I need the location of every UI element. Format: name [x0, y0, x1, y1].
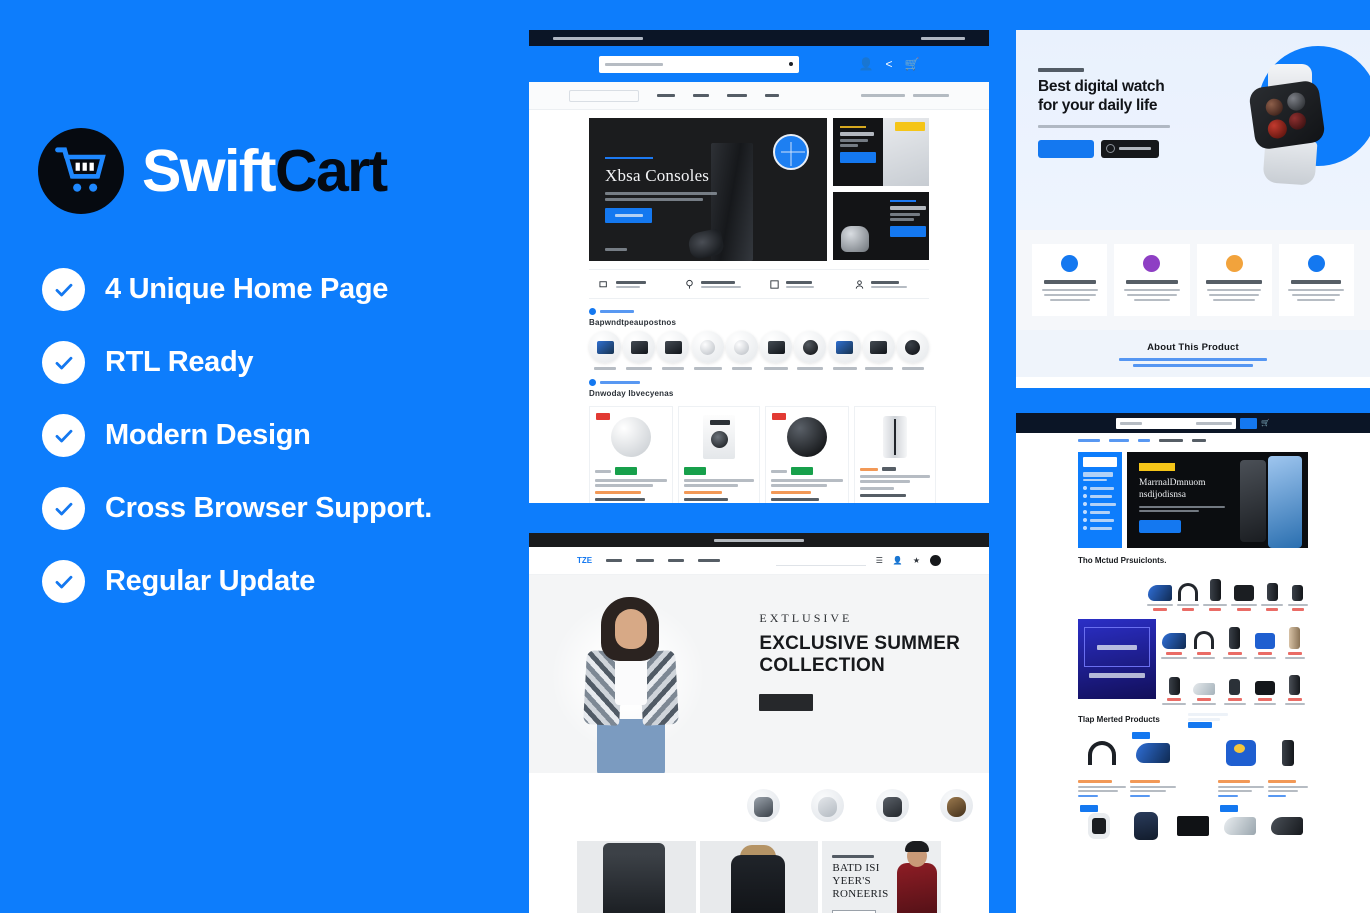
usp-item-shipping	[589, 279, 674, 290]
promo-left-panel: SwiftCart 4 Unique Home Page RTL Ready M…	[0, 0, 529, 913]
product-card[interactable]	[1282, 665, 1308, 705]
brand-name: SwiftCart	[142, 142, 387, 201]
nav-logo[interactable]: TZE	[577, 556, 592, 565]
watch-product-image	[1238, 64, 1342, 184]
header-icon-group[interactable]: 👤 < 🛒	[859, 57, 920, 71]
hero-title: EXCLUSIVE SUMMER COLLECTION	[759, 633, 989, 678]
fashion-home-mockup: TZE ☰ 👤 ★ EXTLUSIVE	[529, 533, 989, 913]
cart-icon[interactable]: 🛒	[1261, 419, 1270, 427]
collection-promo-card[interactable]: BATD ISI YEER'S RONEERIS	[822, 841, 941, 913]
category-circle-strip[interactable]	[731, 781, 989, 829]
promo-card-top-button[interactable]	[840, 152, 876, 163]
product-card[interactable]	[1125, 803, 1168, 849]
categories-section-title: Bapwndtpeaupostnos	[589, 318, 929, 327]
product-card[interactable]	[1203, 571, 1227, 611]
compare-icon[interactable]: <	[885, 57, 892, 71]
hero-title: Best digital watch for your daily life	[1038, 78, 1180, 116]
product-card[interactable]	[854, 406, 936, 503]
brand-name-first: Swift	[142, 138, 275, 204]
truck-icon	[599, 279, 610, 290]
feature-card-row	[1016, 230, 1370, 330]
product-image	[787, 417, 827, 457]
category-item[interactable]	[589, 331, 621, 370]
feature-card[interactable]	[1114, 244, 1189, 316]
cart-icon[interactable]: 🛒	[905, 57, 920, 71]
category-item[interactable]	[692, 331, 724, 370]
sidebar-item[interactable]	[1083, 518, 1117, 522]
feature-item-rtl-ready: RTL Ready	[42, 341, 529, 384]
category-circle[interactable]	[811, 789, 844, 822]
category-sidebar[interactable]	[1078, 452, 1122, 548]
product-card[interactable]	[1130, 730, 1176, 797]
promo-card[interactable]	[1078, 619, 1156, 699]
product-card[interactable]	[1221, 665, 1247, 705]
promo-card-top[interactable]	[833, 118, 929, 186]
user-icon[interactable]: 👤	[893, 556, 903, 565]
check-circle-icon	[42, 560, 85, 603]
sale-badge	[596, 413, 610, 420]
banner-cta-button[interactable]	[1139, 520, 1181, 533]
search-input[interactable]	[1116, 418, 1236, 429]
promo-title: BATD ISI YEER'S RONEERIS	[832, 862, 888, 902]
collection-card[interactable]	[577, 841, 696, 913]
category-item[interactable]	[897, 331, 929, 370]
banner-tag	[1139, 463, 1175, 471]
hero-banner[interactable]: EXTLUSIVE EXCLUSIVE SUMMER COLLECTION	[529, 575, 989, 773]
hero-title: Xbsa Consoles	[605, 166, 735, 186]
category-carousel[interactable]	[589, 331, 929, 370]
feature-label: RTL Ready	[105, 347, 253, 379]
discount-badge	[895, 122, 925, 131]
sale-badge	[772, 413, 786, 420]
about-section: About This Product	[1016, 330, 1370, 377]
hero-rule	[605, 157, 653, 159]
sidebar-item[interactable]	[1083, 486, 1117, 490]
product-card[interactable]	[1172, 803, 1215, 849]
headset-icon	[684, 279, 695, 290]
speaker-product-image	[841, 226, 869, 252]
user-icon[interactable]: 👤	[859, 57, 874, 71]
hero-banner[interactable]: MarrnalDmnuom nsdijodisnsa	[1127, 452, 1308, 548]
feature-card-icon	[1061, 255, 1078, 272]
category-item[interactable]	[657, 331, 689, 370]
usp-item-returns	[759, 279, 844, 290]
watch-landing-mockup: Best digital watch for your daily life	[1016, 30, 1370, 388]
hero-kicker: EXTLUSIVE	[759, 611, 989, 626]
all-categories-dropdown[interactable]	[569, 90, 639, 102]
product-card[interactable]	[1191, 665, 1217, 705]
hero-cta-button[interactable]	[759, 694, 813, 711]
announcement-bar	[529, 30, 989, 46]
play-icon	[1106, 144, 1115, 153]
promo-cta-button[interactable]	[832, 910, 876, 913]
usp-item-account	[844, 279, 929, 290]
category-item[interactable]	[794, 331, 826, 370]
category-nav[interactable]	[529, 82, 989, 110]
feature-label: Modern Design	[105, 420, 311, 452]
hero-banner[interactable]: Xbsa Consoles	[589, 118, 827, 261]
product-card[interactable]	[1252, 619, 1278, 659]
about-title: About This Product	[1016, 342, 1370, 353]
promo-card-bottom-button[interactable]	[890, 226, 926, 237]
product-card[interactable]	[1191, 619, 1217, 659]
sidebar-search[interactable]	[1083, 457, 1117, 467]
top-rated-products-section: Tlap Merted Products	[1016, 705, 1370, 849]
product-card[interactable]	[1282, 619, 1308, 659]
feature-label: Cross Browser Support.	[105, 493, 432, 525]
discount-badge	[1220, 805, 1238, 812]
products-section-header: Dnwoday Ibvecyenas	[589, 370, 929, 402]
product-card[interactable]	[1252, 665, 1278, 705]
hero-subtitle	[1038, 125, 1180, 128]
usp-strip	[589, 269, 929, 299]
usp-item-support	[674, 279, 759, 290]
search-button[interactable]	[1240, 418, 1257, 429]
category-circle[interactable]	[940, 789, 973, 822]
product-card[interactable]	[1287, 571, 1308, 611]
shopping-cart-icon	[38, 128, 124, 214]
product-card[interactable]	[1177, 571, 1199, 611]
brand-tile[interactable]	[1078, 593, 1092, 612]
feature-label: 4 Unique Home Page	[105, 274, 388, 306]
hero-cta-button[interactable]	[605, 208, 652, 223]
product-card[interactable]	[1218, 803, 1261, 849]
main-nav[interactable]: TZE ☰ 👤 ★	[529, 547, 989, 575]
box-icon	[769, 279, 780, 290]
discount-badge	[1080, 805, 1098, 812]
primary-cta-button[interactable]	[1038, 140, 1094, 158]
header-bar: 🛒	[1016, 413, 1370, 433]
categories-section-header: Bapwndtpeaupostnos	[589, 299, 929, 331]
phone-product-image	[1268, 456, 1302, 548]
banner-title: MarrnalDmnuom nsdijodisnsa	[1139, 477, 1228, 502]
feature-card[interactable]	[1197, 244, 1272, 316]
about-content-strip	[1032, 377, 1354, 388]
product-card[interactable]	[1078, 803, 1121, 849]
feature-label: Regular Update	[105, 566, 315, 598]
sidebar-item[interactable]	[1083, 502, 1117, 506]
category-item[interactable]	[760, 331, 792, 370]
brand-name-second: Cart	[275, 138, 387, 204]
discount-badge	[1132, 732, 1150, 739]
header-search-bar: 👤 < 🛒	[529, 46, 989, 82]
product-card[interactable]	[1161, 619, 1187, 659]
feature-card-icon	[1226, 255, 1243, 272]
brand-tile[interactable]	[1112, 571, 1126, 590]
electronics-home-mockup: 👤 < 🛒 Xbsa Consoles	[529, 30, 989, 503]
category-item[interactable]	[829, 331, 861, 370]
product-card[interactable]	[678, 406, 760, 503]
feature-item-regular-update: Regular Update	[42, 560, 529, 603]
sidebar-item[interactable]	[1083, 494, 1117, 498]
product-card[interactable]	[1078, 730, 1126, 797]
product-card[interactable]	[1221, 619, 1247, 659]
phone-product-image	[1240, 460, 1266, 542]
cart-icon[interactable]	[930, 555, 941, 566]
product-card[interactable]	[1218, 730, 1264, 797]
check-circle-icon	[42, 341, 85, 384]
product-card[interactable]	[765, 406, 849, 503]
product-card[interactable]	[1147, 571, 1173, 611]
product-image	[611, 417, 651, 457]
price-badge	[791, 467, 813, 475]
product-card[interactable]	[1265, 803, 1308, 849]
feature-item-home-page: 4 Unique Home Page	[42, 268, 529, 311]
product-card[interactable]	[1231, 571, 1257, 611]
check-circle-icon	[42, 414, 85, 457]
category-circle[interactable]	[747, 789, 780, 822]
announcement-bar	[529, 533, 989, 547]
category-circle[interactable]	[876, 789, 909, 822]
collection-card-row: BATD ISI YEER'S RONEERIS	[529, 829, 989, 913]
search-input[interactable]	[599, 56, 799, 73]
hero-badge-icon	[773, 134, 809, 170]
product-image	[703, 415, 735, 459]
user-icon	[854, 279, 865, 290]
feature-card-icon	[1308, 255, 1325, 272]
check-circle-icon	[42, 487, 85, 530]
collection-card[interactable]	[700, 841, 819, 913]
feature-card[interactable]	[1279, 244, 1354, 316]
brand-logo: SwiftCart	[38, 128, 529, 214]
section-dot-icon	[589, 308, 596, 315]
product-card[interactable]	[1161, 665, 1187, 705]
featured-section-title: Tho Mctud Prsuiclonts.	[1078, 556, 1308, 565]
main-nav[interactable]	[1016, 433, 1370, 447]
brand-tile[interactable]	[1095, 571, 1109, 590]
product-image	[883, 416, 907, 458]
product-promo-card[interactable]	[1180, 730, 1214, 797]
category-item[interactable]	[863, 331, 895, 370]
feature-card[interactable]	[1032, 244, 1107, 316]
product-card[interactable]	[1268, 730, 1308, 797]
sidebar-item[interactable]	[1083, 526, 1117, 530]
products-section-title: Dnwoday Ibvecyenas	[589, 389, 929, 398]
feature-item-modern-design: Modern Design	[42, 414, 529, 457]
marketplace-home-mockup: 🛒 MarrnalDmnuom nsdijodisnsa	[1016, 413, 1370, 913]
promo-card-bottom[interactable]	[833, 192, 929, 260]
section-dot-icon	[589, 379, 596, 386]
feature-card-icon	[1143, 255, 1160, 272]
product-card[interactable]	[1261, 571, 1283, 611]
menu-icon[interactable]: ☰	[876, 556, 883, 565]
sidebar-item[interactable]	[1083, 510, 1117, 514]
product-grid	[589, 406, 929, 503]
check-circle-icon	[42, 268, 85, 311]
feature-list: 4 Unique Home Page RTL Ready Modern Desi…	[38, 268, 529, 603]
wishlist-icon[interactable]: ★	[913, 556, 920, 565]
brand-tile[interactable]	[1078, 571, 1092, 590]
price-badge	[684, 467, 706, 475]
promo-model-image	[889, 841, 941, 913]
featured-products-section: Tho Mctud Prsuiclonts.	[1016, 548, 1370, 705]
category-item[interactable]	[623, 331, 655, 370]
hero-kicker	[1038, 68, 1180, 72]
product-card[interactable]	[589, 406, 673, 503]
secondary-cta-button[interactable]	[1101, 140, 1159, 158]
feature-item-cross-browser: Cross Browser Support.	[42, 487, 529, 530]
search-input[interactable]	[776, 555, 866, 566]
category-item[interactable]	[726, 331, 758, 370]
hero-banner: Best digital watch for your daily life	[1016, 30, 1370, 230]
price-badge	[615, 467, 637, 475]
hero-model-image	[529, 575, 731, 773]
